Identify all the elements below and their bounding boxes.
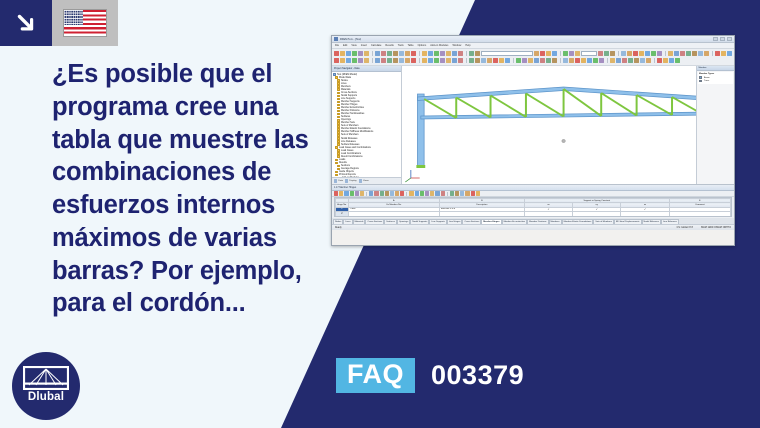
toolbar-icon[interactable] [634,58,639,63]
toolbar-icon[interactable] [455,191,459,195]
table-panel: 1.17 Member Hinges A B Support or Spring… [332,184,734,224]
toolbar-icon[interactable] [374,191,378,195]
toolbar-icon[interactable] [715,51,720,56]
toolbar-separator [560,58,561,63]
toolbar-icon[interactable] [440,58,445,63]
menu-item-file[interactable]: File [335,44,339,47]
toolbar-separator [466,51,467,56]
toolbar-icon[interactable] [458,58,463,63]
table-tab[interactable]: Lines [343,219,352,224]
legend-panel-title: Member [697,66,734,71]
toolbar-icon[interactable] [505,58,510,63]
legend-panel: Member Member Types Beam Truss [696,66,734,184]
table-tab[interactable]: Openings [397,219,410,224]
window-title: RFEM 5.xx - [Test] [340,38,361,41]
toolbar-icon[interactable] [446,51,451,56]
menu-item-view[interactable]: View [351,44,356,47]
toolbar-icon[interactable] [534,51,539,56]
toolbar-separator [665,51,666,56]
toolbar-icon[interactable] [645,51,650,56]
toolbar-icon[interactable] [452,58,457,63]
page-title: ¿Es posible que el programa cree una tab… [52,58,320,320]
toolbar-icon[interactable] [721,51,726,56]
table-tab[interactable]: Member Divisions [527,219,548,224]
table-tab[interactable]: Members [549,219,562,224]
table-cell[interactable] [524,216,572,217]
toolbar-icon[interactable] [450,191,454,195]
coordinate-axes-icon [405,170,419,182]
window-body: Project Navigator - Data Test (RFEM Mode… [332,66,734,184]
table-tab[interactable]: Nodal Supports [410,219,429,224]
menu-item-addon-modules[interactable]: Add-on Modules [430,44,448,47]
table-tab[interactable]: Nodal Releases [642,219,661,224]
toolbar-icon[interactable] [411,58,416,63]
toolbar-icon[interactable] [493,58,498,63]
dlubal-bridge-icon [23,366,69,390]
toolbar-icon[interactable] [646,58,651,63]
toolbar-icon[interactable] [434,51,439,56]
status-coords: CS: Global XYZ [677,227,693,229]
toolbar-icon[interactable] [355,191,359,195]
toolbar-icon[interactable] [639,51,644,56]
navigator-tree[interactable]: Test (RFEM Model)Model DataNodesLinesMem… [332,72,401,177]
toolbar-icon[interactable] [387,58,392,63]
toolbar-icon[interactable] [441,191,445,195]
table-tab[interactable]: Cross-Sections [365,219,384,224]
toolbar-icon[interactable] [381,51,386,56]
table-tab[interactable]: Line Releases [661,219,679,224]
toolbar-icon[interactable] [393,58,398,63]
table-tab[interactable]: RF-Steel Displacements [614,219,642,224]
toolbar-icon[interactable] [340,51,345,56]
minimize-icon[interactable] [713,37,718,41]
menu-item-insert[interactable]: Insert [361,44,367,47]
faq-strip: FAQ 003379 [336,358,524,393]
toolbar-icon[interactable] [575,51,580,56]
application-screenshot: RFEM 5.xx - [Test] File Edit View Insert… [331,35,735,246]
toolbar-icon[interactable] [581,58,586,63]
toolbar-separator [419,51,420,56]
legend-entry-truss: Truss [699,79,732,82]
status-snap: SNAP GRID OSNAP ORTHO [701,227,731,229]
toolbar-icon[interactable] [420,191,424,195]
toolbar-icon[interactable] [465,191,469,195]
table-tab[interactable]: Member Eccentricities [502,219,528,224]
toolbar-icon[interactable] [405,51,410,56]
toolbar-icon[interactable] [546,58,551,63]
project-navigator: Project Navigator - Data Test (RFEM Mode… [332,66,402,184]
toolbar-separator [618,51,619,56]
top-left-badges [0,0,118,46]
table-cell[interactable] [439,216,524,217]
toolbar-icon[interactable] [471,191,475,195]
toolbar-icon[interactable] [334,191,338,195]
toolbar-icon[interactable] [425,191,429,195]
toolbar-icon[interactable] [469,58,474,63]
toolbar-icon[interactable] [575,58,580,63]
arrow-down-right-icon[interactable] [0,0,52,46]
toolbar-icon[interactable] [599,58,604,63]
toolbar-separator [372,51,373,56]
toolbar-icon[interactable] [409,191,413,195]
toolbar-icon[interactable] [369,191,373,195]
toolbar-icon[interactable] [352,51,357,56]
legend-title: Member Types [699,73,732,75]
toolbar-separator [447,192,448,196]
toolbar-combo-field[interactable] [481,51,533,56]
toolbar-icon[interactable] [339,191,343,195]
toolbar-icon[interactable] [434,58,439,63]
toolbar-icon[interactable] [476,191,480,195]
legend-label-beam: Beam [704,77,710,79]
toolbar-icon[interactable] [446,58,451,63]
toolbar-icon[interactable] [640,58,645,63]
menu-item-table[interactable]: Table [408,44,414,47]
toolbar-icon[interactable] [415,191,419,195]
toolbar-icon[interactable] [569,58,574,63]
table-tab[interactable]: Line Hinges [447,219,463,224]
toolbar-icon[interactable] [534,58,539,63]
table-tab-strip[interactable]: NodesLinesMaterialsCross-SectionsSurface… [332,218,734,224]
toolbar-icon[interactable] [422,51,427,56]
toolbar-icon[interactable] [364,51,369,56]
toolbar-icon[interactable] [390,191,394,195]
toolbar-icon[interactable] [610,51,615,56]
poster: ¿Es posible que el programa cree una tab… [0,0,760,428]
toolbar-icon[interactable] [563,58,568,63]
menu-item-tools[interactable]: Tools [398,44,404,47]
toolbar-icon[interactable] [698,51,703,56]
table-element: A B Support or Spring Constant E Hinge N… [335,198,731,217]
toolbar-icon[interactable] [435,191,439,195]
toolbar-icon[interactable] [411,51,416,56]
menu-item-help[interactable]: Help [465,44,470,47]
toolbar-icon[interactable] [628,58,633,63]
toolbar-separator [712,51,713,56]
toolbar-icon[interactable] [598,51,603,56]
toolbar-icon[interactable] [616,58,621,63]
toolbar-icon[interactable] [593,58,598,63]
toolbar-icon[interactable] [610,58,615,63]
toolbar-separator [366,192,367,196]
toolbar-icon[interactable] [440,51,445,56]
toolbar-icon[interactable] [358,51,363,56]
model-viewport[interactable]: Member Member Types Beam Truss [402,66,734,184]
window-title-bar: RFEM 5.xx - [Test] [332,36,734,43]
toolbar-icon[interactable] [458,51,463,56]
table-tab[interactable]: Member Elastic Foundations [562,219,594,224]
navigator-tabs: Data Display Views [332,177,401,184]
table-cell[interactable] [348,216,439,217]
toolbar-icon[interactable] [452,51,457,56]
menu-item-calculate[interactable]: Calculate [371,44,381,47]
menu-item-options[interactable]: Options [418,44,427,47]
dlubal-logo[interactable]: Dlubal [12,352,80,420]
toolbar-icon[interactable] [380,191,384,195]
toolbar-icon[interactable] [430,191,434,195]
status-bar: Ready CS: Global XYZ SNAP GRID OSNAP ORT… [332,224,734,230]
toolbar-separator [607,58,608,63]
logo-wordmark: Dlubal [12,391,80,403]
toolbar-icon[interactable] [387,51,392,56]
toolbar-zoom-field[interactable] [581,51,597,56]
table-tab[interactable]: Surfaces [384,219,397,224]
toolbar-icon[interactable] [487,58,492,63]
toolbar-icon[interactable] [364,58,369,63]
toolbar-icon[interactable] [546,51,551,56]
toolbar-icon[interactable] [569,51,574,56]
toolbar-row-2 [334,57,732,64]
toolbar-icon[interactable] [651,51,656,56]
status-left: Ready [335,227,342,229]
toolbar-icon[interactable] [346,51,351,56]
toolbar-icon[interactable] [540,51,545,56]
toolbar-icon[interactable] [604,51,609,56]
close-icon[interactable] [727,37,732,41]
toolbar-icon[interactable] [552,58,557,63]
toolbar-icon[interactable] [422,58,427,63]
toolbar-separator [654,58,655,63]
toolbar-icon[interactable] [358,58,363,63]
toolbar-icon[interactable] [428,51,433,56]
flag-canton [64,10,83,25]
legend-label-truss: Truss [704,80,709,82]
toolbar-icon[interactable] [405,58,410,63]
table-cell[interactable] [573,216,621,217]
toolbar-icon[interactable] [692,51,697,56]
toolbar-icon[interactable] [674,51,679,56]
toolbar-icon[interactable] [334,58,339,63]
table-cell[interactable] [621,216,669,217]
toolbar-icon[interactable] [340,58,345,63]
toolbar-icon[interactable] [475,58,480,63]
toolbar-icon[interactable] [481,58,486,63]
toolbar-icon[interactable] [375,51,380,56]
toolbar-icon[interactable] [587,58,592,63]
maximize-icon[interactable] [720,37,725,41]
toolbar-icon[interactable] [350,191,354,195]
toolbar-icon[interactable] [627,51,632,56]
data-grid[interactable]: A B Support or Spring Constant E Hinge N… [334,197,732,217]
logo-circle: Dlubal [12,352,80,420]
table-row[interactable]: 3 [336,216,731,217]
table-tab[interactable]: Line Supports [429,219,447,224]
toolbar-icon[interactable] [668,51,673,56]
toolbar-icon[interactable] [360,191,364,195]
toolbar-icon[interactable] [675,58,680,63]
toolbar-separator [466,58,467,63]
toolbar-icon[interactable] [385,191,389,195]
toolbar-icon[interactable] [469,51,474,56]
toolbar-icon[interactable] [633,51,638,56]
toolbars [332,49,734,66]
legend-body: Member Types Beam Truss [698,72,733,84]
flag-graphic [63,9,107,37]
toolbar-separator [406,192,407,196]
toolbar-icon[interactable] [381,58,386,63]
menu-item-results[interactable]: Results [385,44,393,47]
toolbar-icon[interactable] [621,51,626,56]
navigator-tab-views[interactable]: Views [359,179,369,182]
toolbar-icon[interactable] [552,51,557,56]
toolbar-icon[interactable] [334,51,339,56]
toolbar-icon[interactable] [428,58,433,63]
toolbar-icon[interactable] [475,51,480,56]
toolbar-icon[interactable] [522,58,527,63]
toolbar-icon[interactable] [563,51,568,56]
toolbar-icon[interactable] [395,191,399,195]
toolbar-icon[interactable] [680,51,685,56]
toolbar-icon[interactable] [704,51,709,56]
toolbar-icon[interactable] [540,58,545,63]
table-tab[interactable]: Materials [353,219,366,224]
toolbar-icon[interactable] [344,191,348,195]
toolbar-separator [419,58,420,63]
toolbar-icon[interactable] [375,58,380,63]
window-controls [713,37,732,41]
toolbar-icon[interactable] [669,58,674,63]
rfem-app-icon [334,37,338,41]
structure-model [402,66,734,184]
toolbar-icon[interactable] [399,51,404,56]
toolbar-icon[interactable] [400,191,404,195]
navigator-tab-display[interactable]: Display [345,179,357,182]
table-tab[interactable]: Member Hinges [481,219,501,224]
table-tab[interactable]: Sets of Members [593,219,614,224]
faq-badge: FAQ [336,358,415,393]
toolbar-icon[interactable] [528,58,533,63]
status-right-group: CS: Global XYZ SNAP GRID OSNAP ORTHO [677,227,731,229]
faq-number: 003379 [431,362,524,389]
menu-item-edit[interactable]: Edit [343,44,347,47]
toolbar-separator [513,58,514,63]
toolbar-icon[interactable] [663,58,668,63]
navigator-tab-data[interactable]: Data [334,179,343,182]
toolbar-row-1 [334,50,732,57]
row-header-cell[interactable]: 3 [336,216,349,217]
toolbar-icon[interactable] [393,51,398,56]
toolbar-icon[interactable] [727,51,732,56]
us-flag-icon[interactable] [52,0,118,46]
toolbar-icon[interactable] [657,58,662,63]
toolbar-icon[interactable] [460,191,464,195]
toolbar-icon[interactable] [686,51,691,56]
toolbar-separator [372,58,373,63]
table-tab[interactable]: Nodes [333,219,343,224]
toolbar-icon[interactable] [399,58,404,63]
toolbar-separator [560,51,561,56]
toolbar-icon[interactable] [657,51,662,56]
toolbar-icon[interactable] [622,58,627,63]
toolbar-icon[interactable] [516,58,521,63]
menu-item-window[interactable]: Window [452,44,461,47]
table-tab[interactable]: Cross-Sections [462,219,481,224]
table-cell[interactable] [669,216,730,217]
toolbar-icon[interactable] [346,58,351,63]
toolbar-icon[interactable] [352,58,357,63]
toolbar-icon[interactable] [499,58,504,63]
